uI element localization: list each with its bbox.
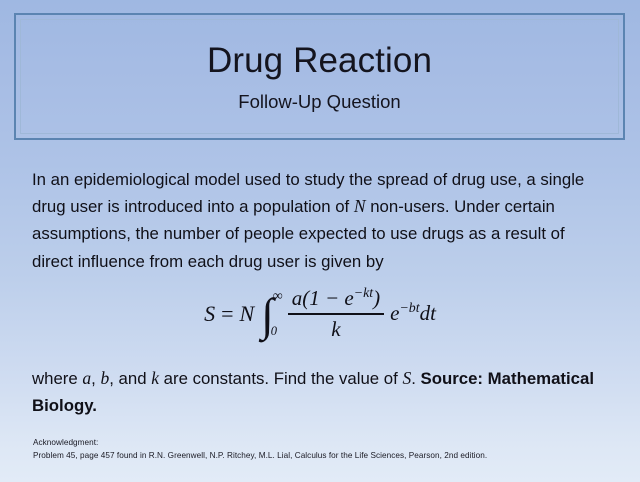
closing-prefix: where [32,369,82,388]
acknowledgment-block: Acknowledgment: Problem 45, page 457 fou… [33,437,623,462]
numerator-prefix: a(1 − e [292,286,354,310]
body-paragraph: In an epidemiological model used to stud… [32,166,610,275]
title-box: Drug Reaction Follow-Up Question [14,13,625,140]
page-title: Drug Reaction [16,40,623,82]
integral-icon: ∫ [261,296,274,334]
differential: dt [420,301,436,325]
integral-group: ∫ ∞ 0 [261,290,283,338]
page-subtitle: Follow-Up Question [16,90,623,114]
closing-variable-k: k [151,368,159,388]
closing-variable-a: a [82,368,91,388]
numerator-exponent: −kt [354,285,373,300]
closing-middle: are constants. Find the value of [159,369,402,388]
acknowledgment-citation: Problem 45, page 457 found in R.N. Green… [33,450,623,463]
fraction-denominator: k [327,315,344,342]
closing-period: . [411,369,420,388]
body-variable-n: N [354,196,366,216]
fraction: a(1 − e−kt) k [288,286,384,341]
closing-variable-b: b [100,368,109,388]
closing-paragraph: where a, b, and k are constants. Find th… [32,365,610,419]
fraction-numerator: a(1 − e−kt) [288,286,384,313]
closing-variable-s: S [402,368,411,388]
formula-equals: = [221,301,233,327]
formula-block: S = N ∫ ∞ 0 a(1 − e−kt) k e−btdt [0,283,640,345]
acknowledgment-label: Acknowledgment: [33,437,623,450]
slide: Drug Reaction Follow-Up Question In an e… [0,0,640,482]
tail-exponent: −bt [399,300,419,315]
numerator-suffix: ) [373,286,380,310]
formula-lhs: S [204,301,215,327]
formula-tail: e−btdt [390,301,436,326]
formula-coefficient: N [239,301,254,327]
formula-equation: S = N ∫ ∞ 0 a(1 − e−kt) k e−btdt [204,286,436,341]
closing-sep2: , and [109,369,151,388]
